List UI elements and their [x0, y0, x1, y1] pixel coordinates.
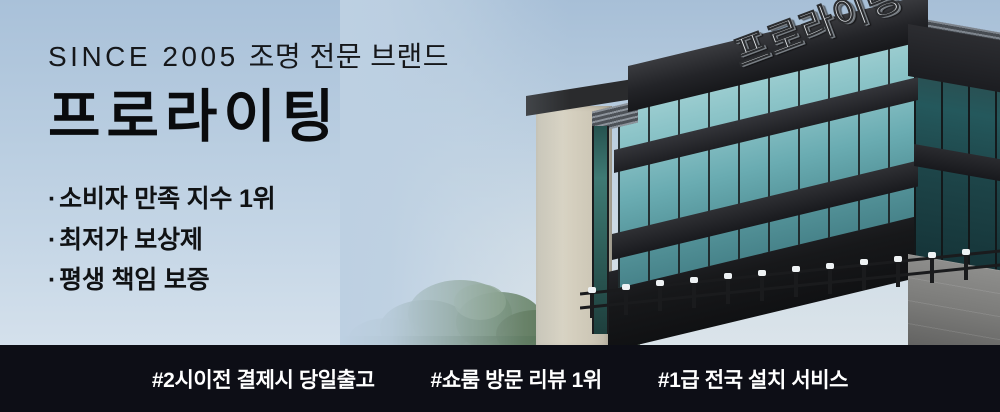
promo-banner: 프로라이팅 SINCE 2005조명 전문 브랜드 프로라이팅 ·소비자 만족 …	[0, 0, 1000, 412]
hashtag-item: #2시이전 결제시 당일출고	[152, 364, 375, 394]
hashtag-item: #쇼룸 방문 리뷰 1위	[431, 364, 602, 394]
bullet-marker: ·	[48, 266, 56, 294]
headline-block: SINCE 2005조명 전문 브랜드 프로라이팅 ·소비자 만족 지수 1위 …	[48, 40, 449, 317]
list-item: ·최저가 보상제	[48, 220, 449, 261]
selling-point-text: 최저가 보상제	[59, 226, 203, 254]
hashtag-bar: #2시이전 결제시 당일출고 #쇼룸 방문 리뷰 1위 #1급 전국 설치 서비…	[0, 345, 1000, 412]
list-item: ·평생 책임 보증	[48, 260, 449, 301]
bullet-marker: ·	[48, 185, 56, 213]
eyebrow-line: SINCE 2005조명 전문 브랜드	[48, 40, 449, 74]
bullet-marker: ·	[48, 226, 56, 254]
deck-railing-icon	[580, 248, 1000, 318]
selling-point-text: 평생 책임 보증	[59, 266, 209, 294]
eyebrow-since: SINCE 2005	[48, 41, 239, 72]
list-item: ·소비자 만족 지수 1위	[48, 179, 449, 220]
eyebrow-korean: 조명 전문 브랜드	[249, 41, 449, 72]
brand-title: 프로라이팅	[48, 88, 449, 148]
selling-point-text: 소비자 만족 지수 1위	[59, 185, 275, 213]
selling-points-list: ·소비자 만족 지수 1위 ·최저가 보상제 ·평생 책임 보증	[48, 179, 449, 301]
hashtag-item: #1급 전국 설치 서비스	[658, 364, 848, 394]
